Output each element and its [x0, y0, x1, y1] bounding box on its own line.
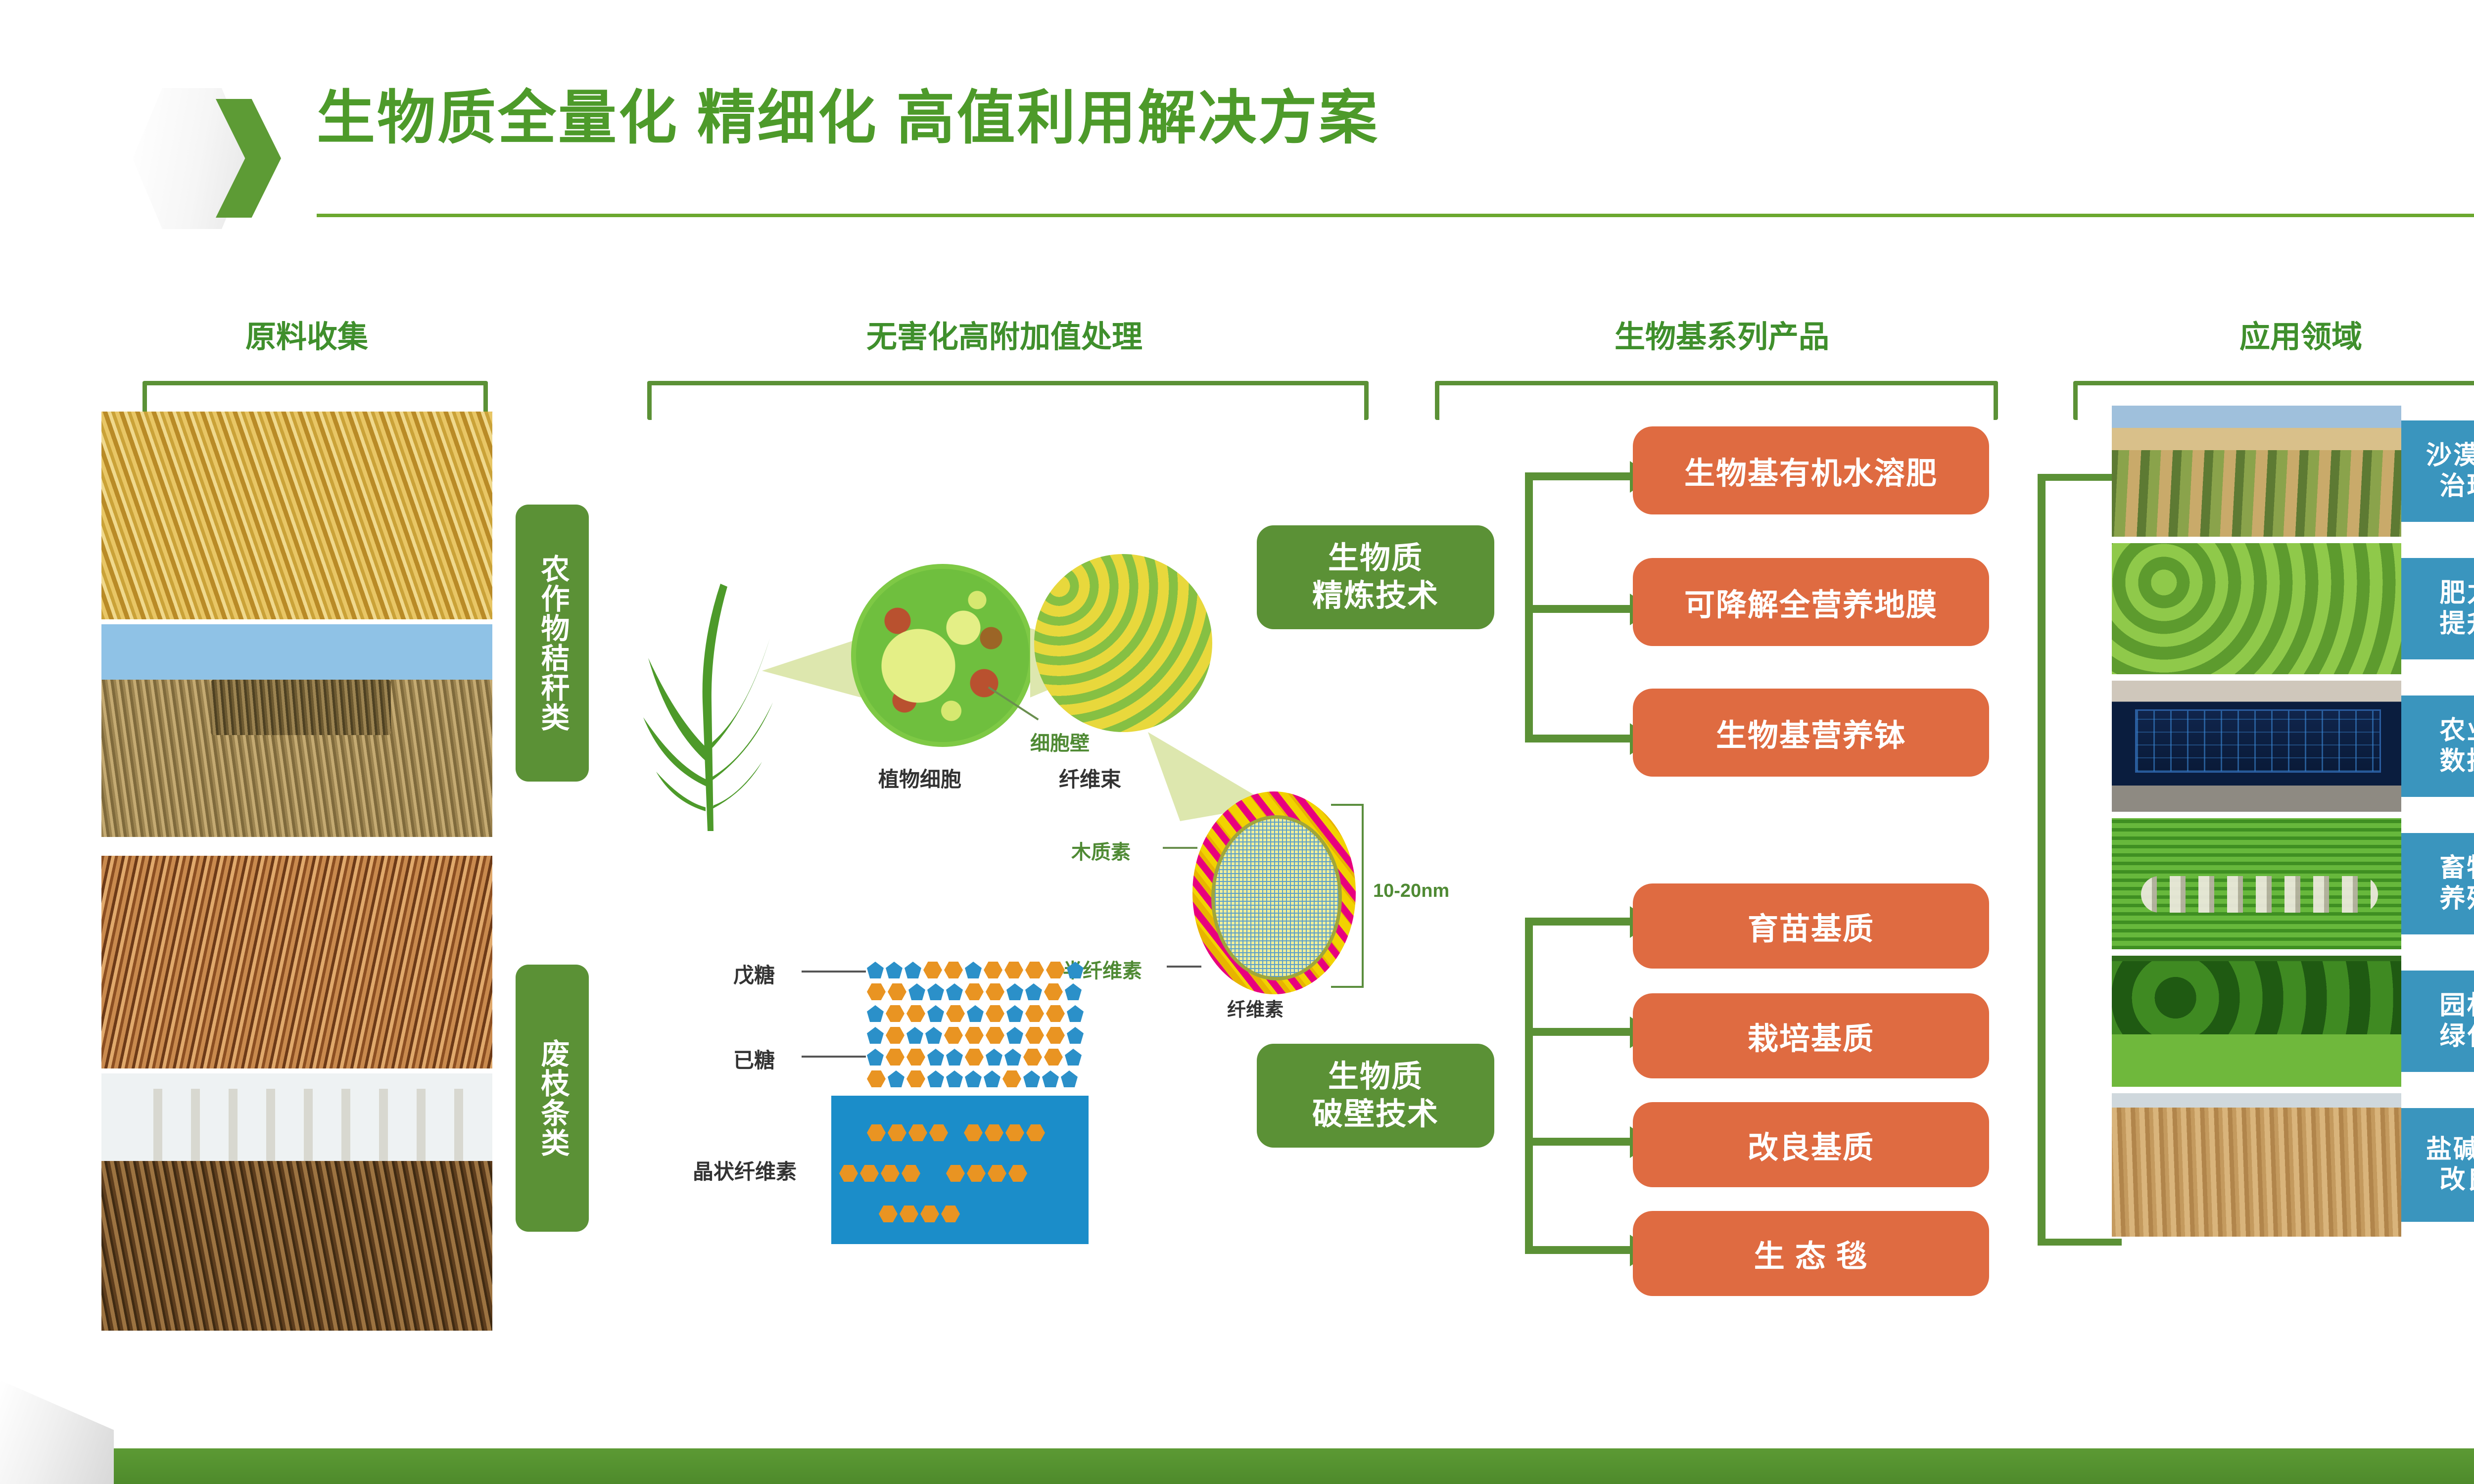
application-label-saline-alkali: 盐碱地 改良 — [2401, 1108, 2474, 1222]
app-label-line1: 沙漠化 — [2426, 441, 2474, 471]
product-box-cultivation-substrate[interactable]: 栽培基质 — [1633, 993, 1989, 1078]
section-header-process: 无害化高附加值处理 — [633, 312, 1376, 356]
app-label-line2: 数据 — [2439, 746, 2474, 777]
connector-branch-1 — [1525, 472, 1630, 480]
sugar-chain-row — [867, 1027, 1084, 1044]
bottom-green-bar — [79, 1448, 2474, 1484]
app-label-line1: 园林 — [2439, 991, 2474, 1021]
app-label-line1: 农业 — [2439, 716, 2474, 746]
bottom-left-wedge-decoration — [0, 1380, 114, 1484]
label-cell-wall: 细胞壁 — [1030, 727, 1090, 756]
product-box-seedling-substrate[interactable]: 育苗基质 — [1633, 883, 1989, 969]
title-underline — [317, 214, 2474, 217]
connector-vertical-wallbreaking — [1525, 918, 1533, 1254]
photo-livestock-grazing — [2112, 818, 2401, 949]
sugar-chain-row — [867, 1070, 1078, 1087]
application-label-livestock: 畜牧 养殖 — [2401, 833, 2474, 934]
app-label-line1: 盐碱地 — [2426, 1135, 2474, 1165]
product-box-organic-fertilizer[interactable]: 生物基有机水溶肥 — [1633, 426, 1989, 514]
photo-soil-fertility — [2112, 543, 2401, 674]
connector-bracket-top — [2038, 474, 2122, 481]
app-label-line1: 畜牧 — [2439, 853, 2474, 883]
label-plant-cell: 植物细胞 — [878, 763, 961, 793]
label-cellulose: 纤维素 — [1227, 994, 1284, 1021]
label-hexose: 已糖 — [733, 1044, 775, 1074]
app-label-line2: 提升 — [2439, 609, 2474, 639]
product-box-ecological-blanket[interactable]: 生 态 毯 — [1633, 1211, 1989, 1296]
photo-dry-branches — [101, 856, 492, 1068]
product-box-improvement-substrate[interactable]: 改良基质 — [1633, 1102, 1989, 1187]
tech-line-2: 精炼技术 — [1312, 577, 1439, 615]
cellulose-core — [1211, 815, 1342, 980]
connector-bracket-bottom — [2038, 1239, 2122, 1246]
leader-line-pentose — [802, 971, 866, 973]
connector-branch-7 — [1525, 1246, 1630, 1254]
tech-box-wallbreaking[interactable]: 生物质 破壁技术 — [1257, 1044, 1494, 1148]
scale-bar-vertical — [1362, 804, 1364, 988]
label-scale-10-20nm: 10-20nm — [1373, 881, 1449, 902]
app-label-line2: 养殖 — [2439, 884, 2474, 914]
label-pentose: 戊糖 — [733, 959, 775, 989]
label-crystalline-cellulose: 晶状纤维素 — [693, 1155, 797, 1185]
sugar-chain-row — [867, 1049, 1082, 1066]
title-bar: 生物质全量化 精细化 高值利用解决方案 — [0, 0, 2474, 257]
plant-cell-illustration — [851, 564, 1034, 747]
section-header-raw: 原料收集 — [124, 312, 490, 356]
tech-line-1: 生物质 — [1312, 1058, 1439, 1096]
leader-line-hemicellulose — [1167, 966, 1201, 968]
product-box-nutrient-pot[interactable]: 生物基营养钵 — [1633, 689, 1989, 777]
tech-box-refining[interactable]: 生物质 精炼技术 — [1257, 525, 1494, 629]
app-label-line1: 肥力 — [2439, 578, 2474, 608]
crystalline-cellulose-panel — [831, 1096, 1089, 1244]
tech-line-2: 破壁技术 — [1312, 1096, 1439, 1133]
label-fiber-bundle: 纤维束 — [1059, 763, 1121, 793]
photo-saline-alkali-land — [2112, 1093, 2401, 1237]
app-label-line2: 改良 — [2426, 1165, 2474, 1195]
scale-bar-bottom — [1331, 986, 1364, 988]
connector-branch-5 — [1525, 1028, 1630, 1036]
category-pill-crop-straw: 农作物秸秆类 — [516, 505, 589, 782]
photo-agri-data-center — [2112, 681, 2401, 812]
sugar-chain-row — [867, 962, 1084, 978]
app-label-line2: 绿化 — [2439, 1021, 2474, 1052]
plant-illustration-icon — [628, 554, 787, 831]
section-header-products: 生物基系列产品 — [1425, 312, 2019, 356]
connector-branch-4 — [1525, 918, 1630, 926]
label-lignin: 木质素 — [1071, 836, 1131, 865]
product-box-biodegradable-mulch[interactable]: 可降解全营养地膜 — [1633, 558, 1989, 646]
fiber-bundle-illustration — [1034, 554, 1212, 732]
connector-branch-2 — [1525, 605, 1630, 613]
connector-bracket-vertical — [2038, 474, 2046, 1246]
connector-branch-3 — [1525, 735, 1630, 742]
photo-vineyard-pruning — [101, 1073, 492, 1331]
application-label-agri-data: 农业 数据 — [2401, 696, 2474, 797]
photo-desert-control — [2112, 406, 2401, 537]
category-pill-waste-branches: 废枝条类 — [516, 965, 589, 1232]
sugar-chain-row — [867, 983, 1082, 1000]
bracket-products — [1435, 381, 1998, 420]
bracket-process — [647, 381, 1369, 420]
tech-line-1: 生物质 — [1312, 540, 1439, 577]
sugar-chain-row — [867, 1005, 1084, 1022]
leader-line-lignin — [1163, 847, 1197, 849]
leader-line-hexose — [802, 1056, 866, 1058]
application-label-desert-control: 沙漠化 治理 — [2401, 420, 2474, 522]
cellulose-fiber-illustration — [1192, 791, 1356, 994]
photo-corn-straw-field — [101, 412, 492, 619]
photo-straw-bale-field — [101, 624, 492, 837]
hexagon-logo-icon — [133, 88, 281, 229]
photo-landscape-greening — [2112, 956, 2401, 1087]
application-label-soil-fertility: 肥力 提升 — [2401, 558, 2474, 659]
section-header-applications: 应用领域 — [2063, 312, 2474, 356]
application-label-landscape: 园林 绿化 — [2401, 971, 2474, 1072]
page-title: 生物质全量化 精细化 高值利用解决方案 — [317, 89, 1380, 147]
app-label-line2: 治理 — [2426, 471, 2474, 502]
scale-bar-top — [1331, 804, 1364, 806]
connector-branch-6 — [1525, 1138, 1630, 1146]
